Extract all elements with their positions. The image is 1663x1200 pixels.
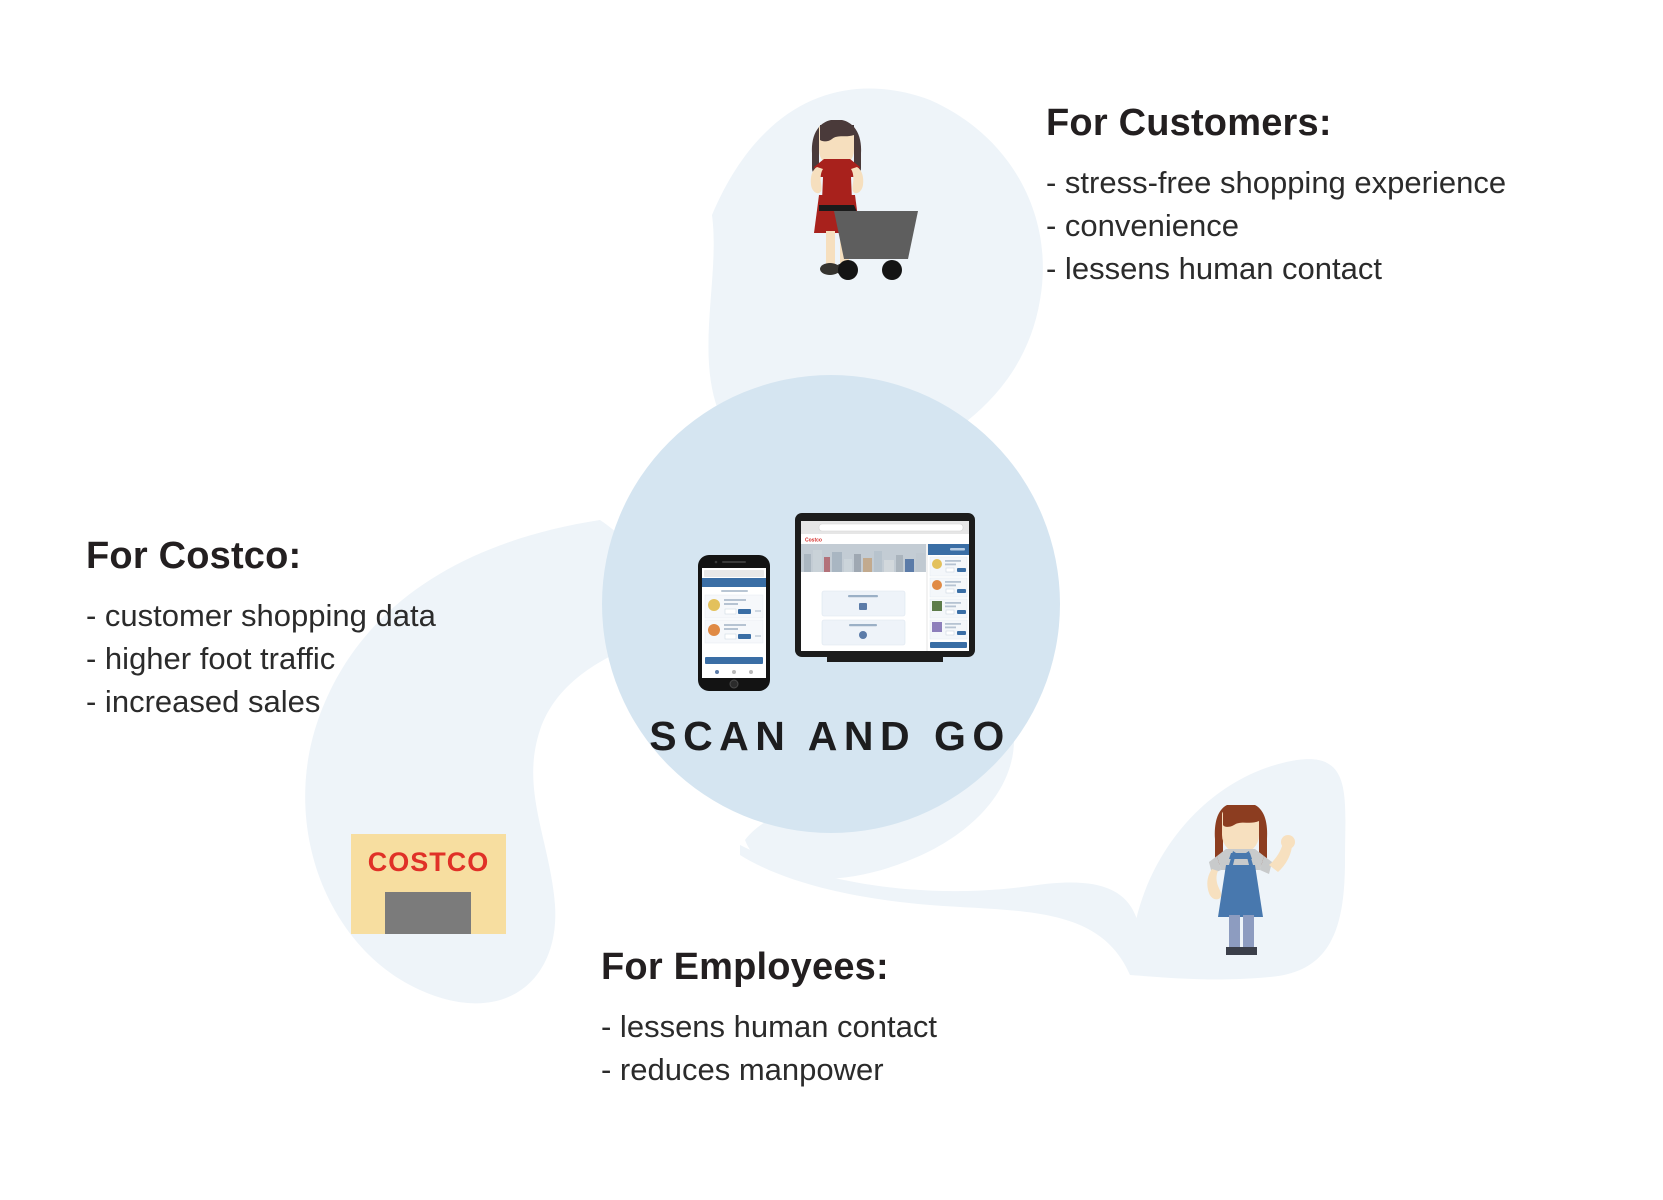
employees-text-block: For Employees: - lessens human contact -… bbox=[601, 945, 937, 1091]
customers-text-block: For Customers: - stress-free shopping ex… bbox=[1046, 101, 1506, 290]
costco-heading: For Costco: bbox=[86, 534, 436, 578]
costco-text-block: For Costco: - customer shopping data - h… bbox=[86, 534, 436, 723]
costco-store-door bbox=[385, 892, 471, 934]
shopping-cart-icon bbox=[830, 205, 930, 285]
svg-text:Costco: Costco bbox=[805, 538, 822, 544]
devices-mockup-icon: Costco bbox=[692, 510, 977, 695]
diagram-canvas: Costco bbox=[0, 0, 1663, 1200]
center-label: SCAN AND GO bbox=[600, 713, 1060, 760]
employees-item-1: - lessens human contact bbox=[601, 1005, 937, 1048]
employees-heading: For Employees: bbox=[601, 945, 937, 989]
customers-item-1: - stress-free shopping experience bbox=[1046, 161, 1506, 204]
costco-store-sign: COSTCO bbox=[351, 847, 506, 878]
costco-item-1: - customer shopping data bbox=[86, 594, 436, 637]
costco-store-icon: COSTCO bbox=[351, 834, 506, 934]
employees-item-2: - reduces manpower bbox=[601, 1048, 937, 1091]
customers-item-2: - convenience bbox=[1046, 204, 1506, 247]
customers-item-3: - lessens human contact bbox=[1046, 247, 1506, 290]
employee-waving-icon bbox=[1193, 787, 1303, 959]
costco-item-2: - higher foot traffic bbox=[86, 637, 436, 680]
costco-item-3: - increased sales bbox=[86, 680, 436, 723]
customers-heading: For Customers: bbox=[1046, 101, 1506, 145]
